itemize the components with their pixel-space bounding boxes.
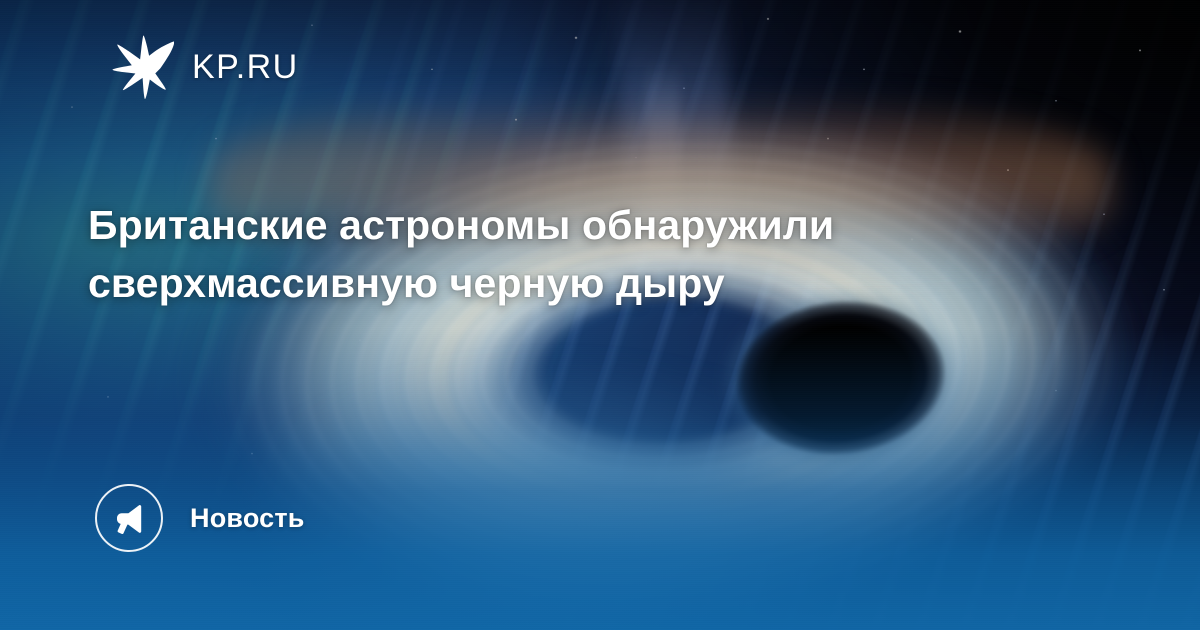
card-content: KP.RU Британские астрономы обнаружили св… <box>0 0 1200 630</box>
badge-icon-circle <box>95 484 163 552</box>
page-title: Британские астрономы обнаружили сверхмас… <box>88 196 1008 312</box>
brand-logo[interactable]: KP.RU <box>112 34 299 100</box>
status-badge[interactable]: Новость <box>95 484 305 552</box>
badge-label: Новость <box>190 505 305 532</box>
megaphone-icon <box>112 501 146 535</box>
brand-wordmark: KP.RU <box>192 50 299 84</box>
swallow-bird-icon <box>112 34 174 100</box>
news-share-card: KP.RU Британские астрономы обнаружили св… <box>0 0 1200 630</box>
